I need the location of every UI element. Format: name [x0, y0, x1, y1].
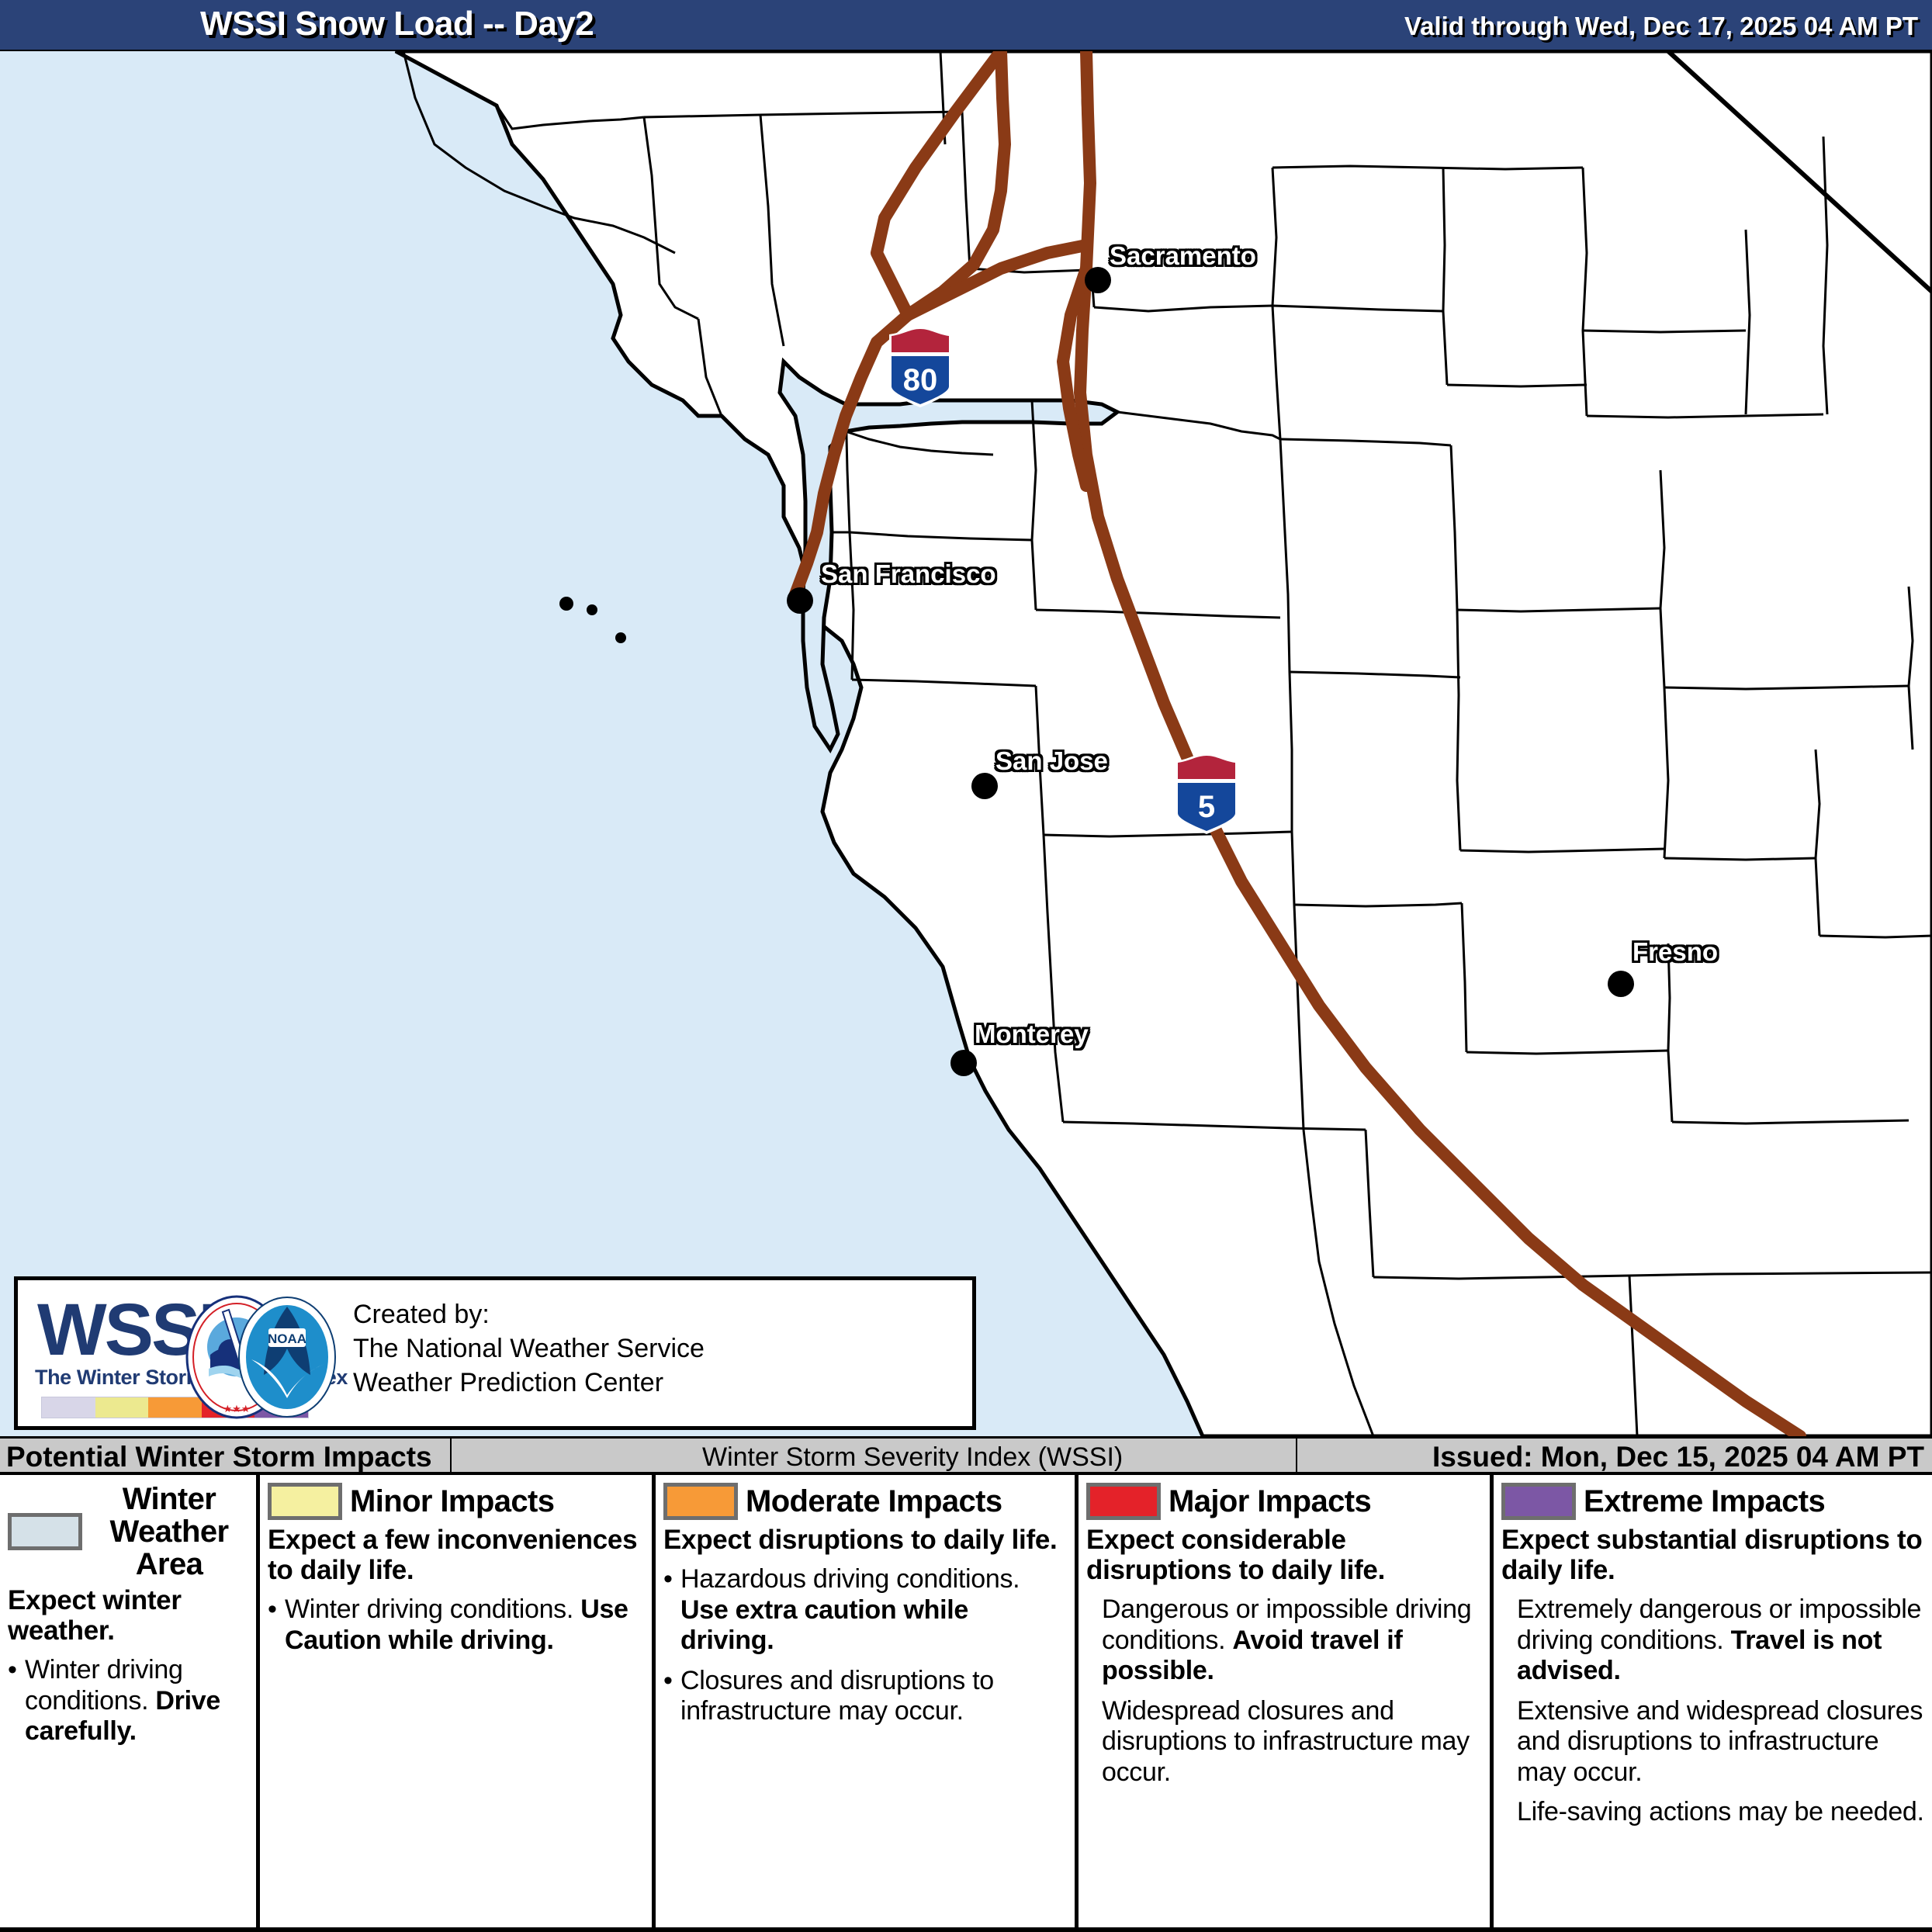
- city-dot-fresno: [1608, 971, 1634, 997]
- legend-swatch-row: Moderate Impacts: [663, 1483, 1067, 1520]
- legend-bullet: Extensive and widespread closures and di…: [1501, 1696, 1924, 1788]
- legend-subtitle-major-impacts: Expect considerable disruptions to daily…: [1086, 1525, 1482, 1585]
- noaa-logo: NOAA: [233, 1294, 341, 1420]
- impacts-bar-divider-1: [450, 1439, 452, 1472]
- wssi-scale-swatch-2: [95, 1397, 149, 1418]
- map-graphic: 80 5: [0, 51, 1932, 1436]
- created-by-block: Created by: The National Weather Service…: [353, 1297, 705, 1401]
- legend-title-minor-impacts: Minor Impacts: [350, 1485, 554, 1518]
- legend-subtitle-minor-impacts: Expect a few inconveniences to daily lif…: [268, 1525, 644, 1585]
- bullet-dot-icon: •: [663, 1564, 680, 1656]
- svg-text:80: 80: [903, 363, 938, 397]
- legend-bullet-text: Extremely dangerous or impossible drivin…: [1517, 1594, 1924, 1686]
- wssi-scale-swatch-1: [42, 1397, 95, 1418]
- legend-swatch-row: Winter Weather Area: [8, 1483, 248, 1581]
- bullet-dot-icon: •: [663, 1666, 680, 1727]
- legend-bullet: • Winter driving conditions. Drive caref…: [8, 1655, 248, 1747]
- city-dot-monterey: [950, 1050, 977, 1076]
- created-by-line-1: Created by:: [353, 1297, 705, 1331]
- bullet-dot-icon: •: [268, 1594, 285, 1656]
- legend-bullet-text: Winter driving conditions. Drive careful…: [25, 1655, 248, 1747]
- legend-title-major-impacts: Major Impacts: [1169, 1485, 1371, 1518]
- legend-column-winter-weather-area[interactable]: Winter Weather Area Expect winter weathe…: [0, 1475, 260, 1927]
- bullet-dot-icon: [1086, 1594, 1102, 1686]
- legend-swatch-winter-weather-area: [8, 1513, 82, 1550]
- island-farallon-2: [587, 604, 597, 615]
- interstate-shield-5: 5: [1175, 753, 1238, 834]
- impacts-bar-divider-2: [1296, 1439, 1297, 1472]
- city-label-monterey: Monterey: [975, 1020, 1089, 1049]
- legend-column-moderate-impacts[interactable]: Moderate Impacts Expect disruptions to d…: [656, 1475, 1079, 1927]
- legend-column-minor-impacts[interactable]: Minor Impacts Expect a few inconvenience…: [260, 1475, 656, 1927]
- city-dot-san-jose: [971, 773, 998, 799]
- page-header: WSSI Snow Load -- Day2 Valid through Wed…: [0, 0, 1932, 51]
- impacts-legend: Winter Weather Area Expect winter weathe…: [0, 1475, 1932, 1932]
- impacts-bar: Potential Winter Storm Impacts Winter St…: [0, 1436, 1932, 1475]
- interstate-shield-80: 80: [889, 327, 951, 407]
- legend-subtitle-moderate-impacts: Expect disruptions to daily life.: [663, 1525, 1067, 1555]
- wssi-snow-load-map-page: WSSI Snow Load -- Day2 Valid through Wed…: [0, 0, 1932, 1932]
- legend-swatch-row: Minor Impacts: [268, 1483, 644, 1520]
- created-by-line-2: The National Weather Service: [353, 1331, 705, 1366]
- city-label-san-jose: San Jose: [995, 746, 1108, 776]
- issued-label: Issued: Mon, Dec 15, 2025 04 AM PT: [1432, 1441, 1924, 1473]
- bullet-dot-icon: [1501, 1696, 1517, 1788]
- legend-swatch-minor-impacts: [268, 1483, 342, 1520]
- legend-bullet: Extremely dangerous or impossible drivin…: [1501, 1594, 1924, 1686]
- legend-bullet: • Hazardous driving conditions. Use extr…: [663, 1564, 1067, 1656]
- legend-title-moderate-impacts: Moderate Impacts: [746, 1485, 1002, 1518]
- legend-title-extreme-impacts: Extreme Impacts: [1584, 1485, 1825, 1518]
- legend-bullet-text: Closures and disruptions to infrastructu…: [680, 1666, 1067, 1727]
- legend-swatch-extreme-impacts: [1501, 1483, 1576, 1520]
- legend-bullet-text: Winter driving conditions. Use Caution w…: [285, 1594, 644, 1656]
- legend-column-extreme-impacts[interactable]: Extreme Impacts Expect substantial disru…: [1494, 1475, 1932, 1927]
- city-dot-sacramento: [1085, 267, 1111, 293]
- legend-bullet: Dangerous or impossible driving conditio…: [1086, 1594, 1482, 1686]
- legend-title-winter-weather-area: Winter Weather Area: [90, 1483, 248, 1581]
- city-label-fresno: Fresno: [1633, 937, 1718, 967]
- city-label-san-francisco: San Francisco: [821, 559, 996, 589]
- legend-bullet-text: Extensive and widespread closures and di…: [1517, 1696, 1924, 1788]
- legend-swatch-row: Extreme Impacts: [1501, 1483, 1924, 1520]
- impacts-bar-center-label: Winter Storm Severity Index (WSSI): [702, 1442, 1123, 1473]
- legend-bullet-text: Dangerous or impossible driving conditio…: [1102, 1594, 1482, 1686]
- created-by-line-3: Weather Prediction Center: [353, 1366, 705, 1400]
- legend-bullet-text: Hazardous driving conditions. Use extra …: [680, 1564, 1067, 1656]
- island-farallon-1: [559, 597, 573, 611]
- map-canvas[interactable]: 80 5 Sacramento San Francisco San Jose F…: [0, 51, 1932, 1436]
- island-farallon-3: [615, 632, 626, 643]
- legend-subtitle-extreme-impacts: Expect substantial disruptions to daily …: [1501, 1525, 1924, 1585]
- legend-bullet: • Closures and disruptions to infrastruc…: [663, 1666, 1067, 1727]
- wssi-logo-box: WSSI TM The Winter Storm Severity Index …: [14, 1276, 976, 1430]
- city-dot-san-francisco: [787, 587, 813, 614]
- legend-bullet-text: Widespread closures and disruptions to i…: [1102, 1696, 1482, 1788]
- legend-swatch-moderate-impacts: [663, 1483, 738, 1520]
- valid-through-text: Valid through Wed, Dec 17, 2025 04 AM PT: [1404, 12, 1918, 41]
- bullet-dot-icon: [1501, 1594, 1517, 1686]
- bullet-dot-icon: [1086, 1696, 1102, 1788]
- legend-column-major-impacts[interactable]: Major Impacts Expect considerable disrup…: [1079, 1475, 1494, 1927]
- page-title: WSSI Snow Load -- Day2: [200, 5, 594, 43]
- city-label-sacramento: Sacramento: [1110, 241, 1256, 271]
- bullet-dot-icon: •: [8, 1655, 25, 1747]
- legend-bullet-text: Life-saving actions may be needed.: [1517, 1797, 1924, 1827]
- legend-bullet: Life-saving actions may be needed.: [1501, 1797, 1924, 1827]
- bullet-dot-icon: [1501, 1797, 1517, 1827]
- legend-swatch-major-impacts: [1086, 1483, 1161, 1520]
- legend-swatch-row: Major Impacts: [1086, 1483, 1482, 1520]
- svg-text:5: 5: [1198, 790, 1215, 824]
- svg-text:NOAA: NOAA: [268, 1331, 306, 1346]
- legend-bullet: • Winter driving conditions. Use Caution…: [268, 1594, 644, 1656]
- impacts-bar-left-label: Potential Winter Storm Impacts: [6, 1441, 432, 1473]
- legend-bullet: Widespread closures and disruptions to i…: [1086, 1696, 1482, 1788]
- legend-subtitle-winter-weather-area: Expect winter weather.: [8, 1585, 248, 1646]
